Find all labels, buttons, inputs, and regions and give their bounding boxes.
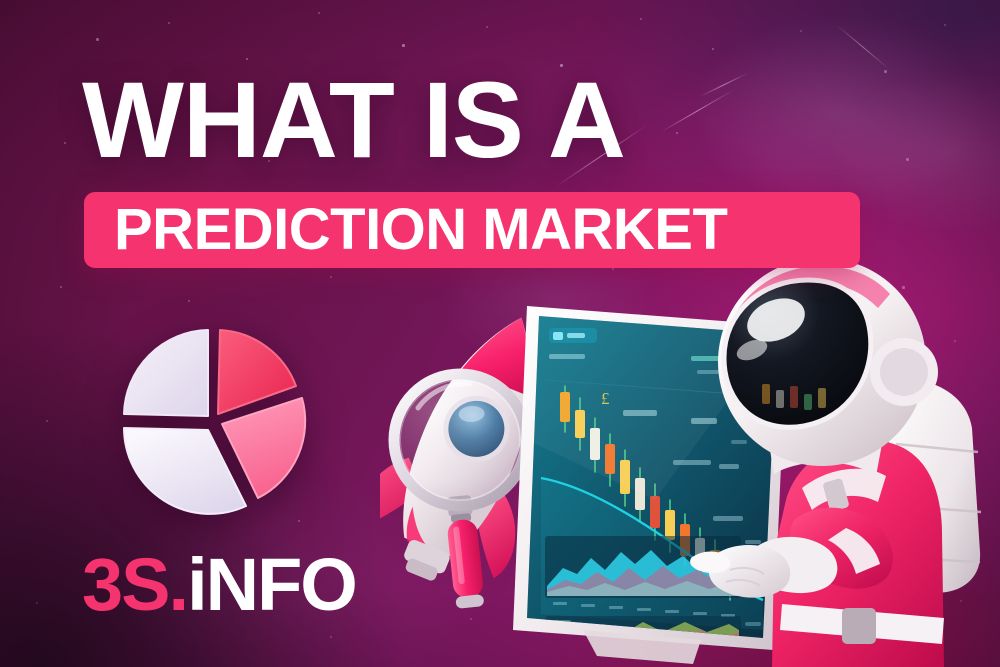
page-title: WHAT IS A — [82, 68, 625, 172]
brand-logo[interactable]: 3S.iNFO — [82, 548, 356, 622]
astronaut-character — [690, 252, 990, 667]
pie-chart-icon — [108, 318, 316, 526]
title-highlight-banner: PREDICTION MARKET — [84, 192, 860, 268]
promo-banner-canvas: £ — [0, 0, 1000, 667]
brand-logo-part-primary: 3S. — [82, 543, 187, 626]
brand-logo-part-secondary: iNFO — [187, 543, 356, 626]
page-subtitle: PREDICTION MARKET — [114, 201, 727, 259]
